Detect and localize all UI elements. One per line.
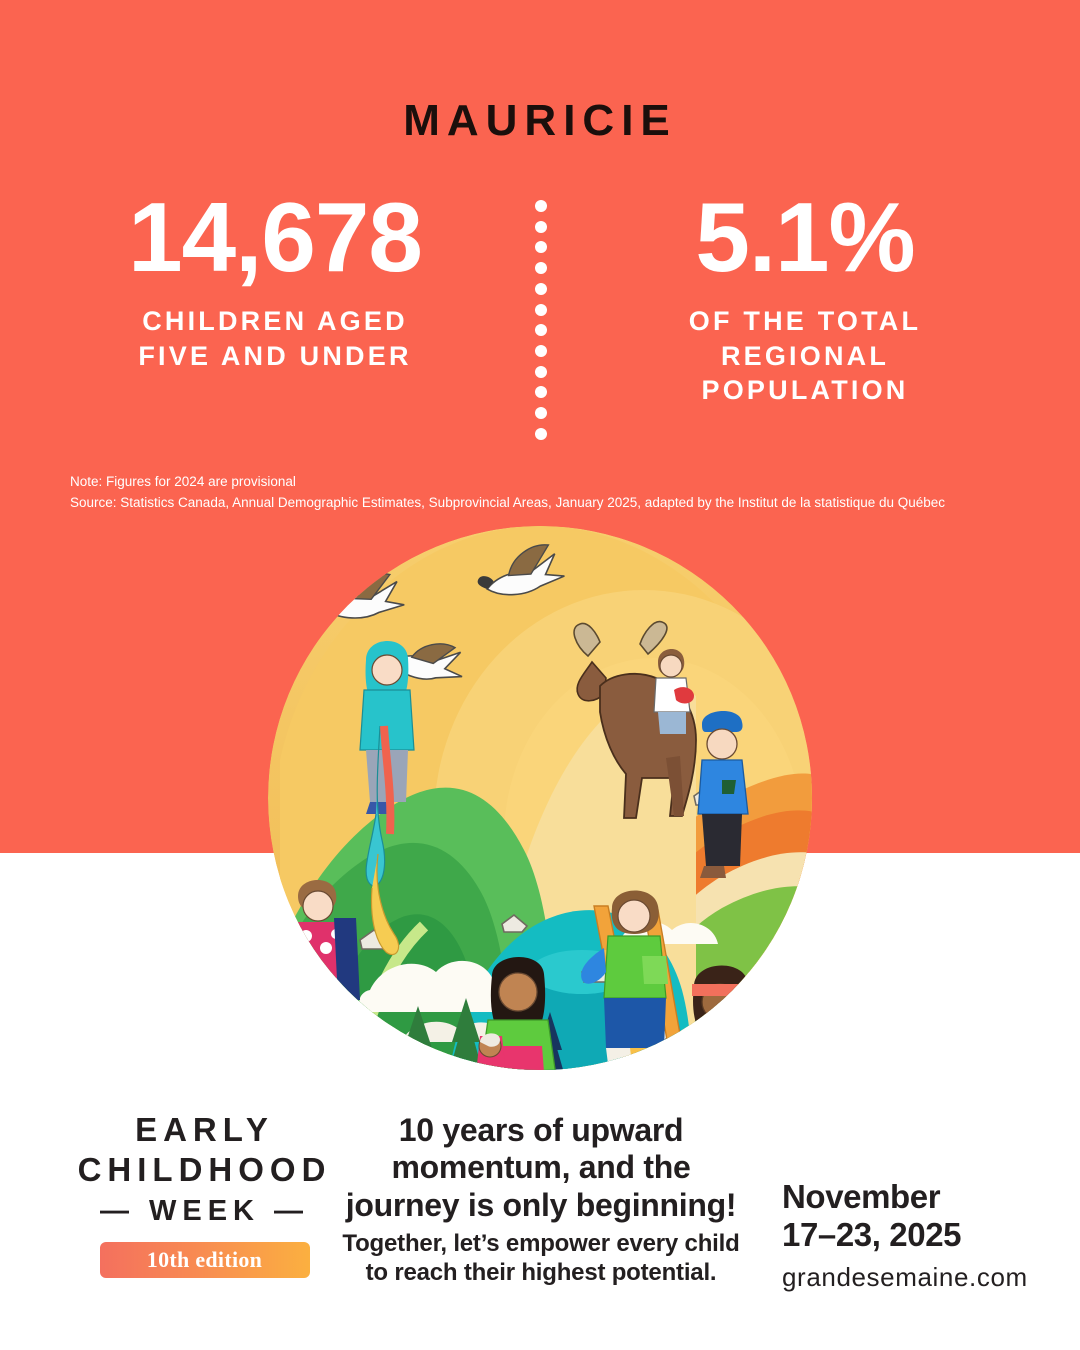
tagline: 10 years of upward momentum, and the jou… (336, 1112, 746, 1288)
stat-children-count: 14,678 CHILDREN AGED FIVE AND UNDER (40, 188, 510, 373)
illustration (252, 520, 828, 1100)
girl-face (372, 655, 402, 685)
divider-dot (535, 386, 547, 398)
boy-pocket (722, 780, 736, 794)
stat-label-population-line1: OF THE TOTAL (570, 304, 1040, 339)
stat-label-population-line3: POPULATION (570, 373, 1040, 408)
child-face (660, 655, 682, 677)
divider-dot (535, 221, 547, 233)
right-girl-top (684, 1030, 754, 1088)
stat-label-population-line2: REGIONAL (570, 339, 1040, 374)
climb-face (618, 900, 650, 932)
girl-with-baby-right (683, 965, 754, 1100)
divider-dot (535, 200, 547, 212)
divider-dot (535, 262, 547, 274)
boy-face (707, 729, 737, 759)
event-date-days: 17–23, 2025 (782, 1216, 1062, 1254)
divider-dot (535, 241, 547, 253)
tagline-subtext: Together, let’s empower every child to r… (336, 1230, 746, 1288)
stat-value-children: 14,678 (40, 188, 510, 286)
divider-dot (535, 407, 547, 419)
stat-population-share: 5.1% OF THE TOTAL REGIONAL POPULATION (570, 188, 1040, 408)
stat-label-population: OF THE TOTAL REGIONAL POPULATION (570, 304, 1040, 408)
child-pants (658, 712, 686, 734)
climb-pants (604, 998, 666, 1048)
girl-red-shoe (306, 1050, 336, 1062)
stat-label-children: CHILDREN AGED FIVE AND UNDER (40, 304, 510, 373)
logo-line-week: — WEEK — (62, 1193, 347, 1231)
logo-line-early: EARLY (62, 1110, 347, 1150)
scene-clipped-group (252, 526, 828, 1100)
girl-red-boot (304, 1024, 332, 1050)
edition-badge: 10th edition (100, 1242, 310, 1278)
girl-red-face (303, 891, 333, 921)
climb-shoe (606, 1064, 636, 1076)
dotted-divider (534, 200, 548, 440)
climb-sock (606, 1048, 632, 1064)
event-website[interactable]: grandesemaine.com (782, 1263, 1062, 1292)
logo-line-childhood: CHILDHOOD (62, 1150, 347, 1190)
pine-trees-right-navy (760, 1002, 796, 1080)
boy-boot (700, 866, 726, 878)
divider-dot (535, 428, 547, 440)
stat-label-children-line1: CHILDREN AGED (40, 304, 510, 339)
event-details: November 17–23, 2025 grandesemaine.com (782, 1178, 1062, 1291)
footnotes: Note: Figures for 2024 are provisional S… (70, 472, 1030, 514)
ladder-rung (624, 1046, 674, 1062)
note-source: Source: Statistics Canada, Annual Demogr… (70, 493, 1030, 514)
right-baby-hair (684, 1036, 708, 1053)
right-baby-face (683, 1037, 709, 1063)
illustration-svg (252, 520, 828, 1100)
tagline-headline: 10 years of upward momentum, and the jou… (336, 1112, 746, 1224)
event-date-month: November (782, 1178, 1062, 1216)
woman-shawl (500, 1046, 544, 1072)
stat-value-population: 5.1% (570, 188, 1040, 286)
early-childhood-week-logo: EARLY CHILDHOOD — WEEK — 10th edition (62, 1110, 347, 1278)
woman-face (499, 973, 537, 1011)
boy-pants (702, 814, 742, 866)
right-girl-hair (693, 965, 749, 1044)
woman-skirt (466, 1076, 570, 1100)
divider-dot (535, 366, 547, 378)
note-provisional: Note: Figures for 2024 are provisional (70, 472, 1030, 493)
divider-dot (535, 304, 547, 316)
divider-dot (535, 345, 547, 357)
divider-dot (535, 324, 547, 336)
divider-dot (535, 283, 547, 295)
right-girl-baby-wrap (698, 1052, 742, 1084)
girl-red-pants (298, 978, 340, 1024)
stat-label-children-line2: FIVE AND UNDER (40, 339, 510, 374)
climb-backpack (642, 956, 668, 984)
page-title: MAURICIE (0, 96, 1080, 146)
poster-root: MAURICIE 14,678 CHILDREN AGED FIVE AND U… (0, 0, 1080, 1350)
right-girl-pants (684, 1088, 754, 1100)
right-girl-headband (692, 984, 748, 996)
girl-red-coat (334, 918, 360, 1000)
